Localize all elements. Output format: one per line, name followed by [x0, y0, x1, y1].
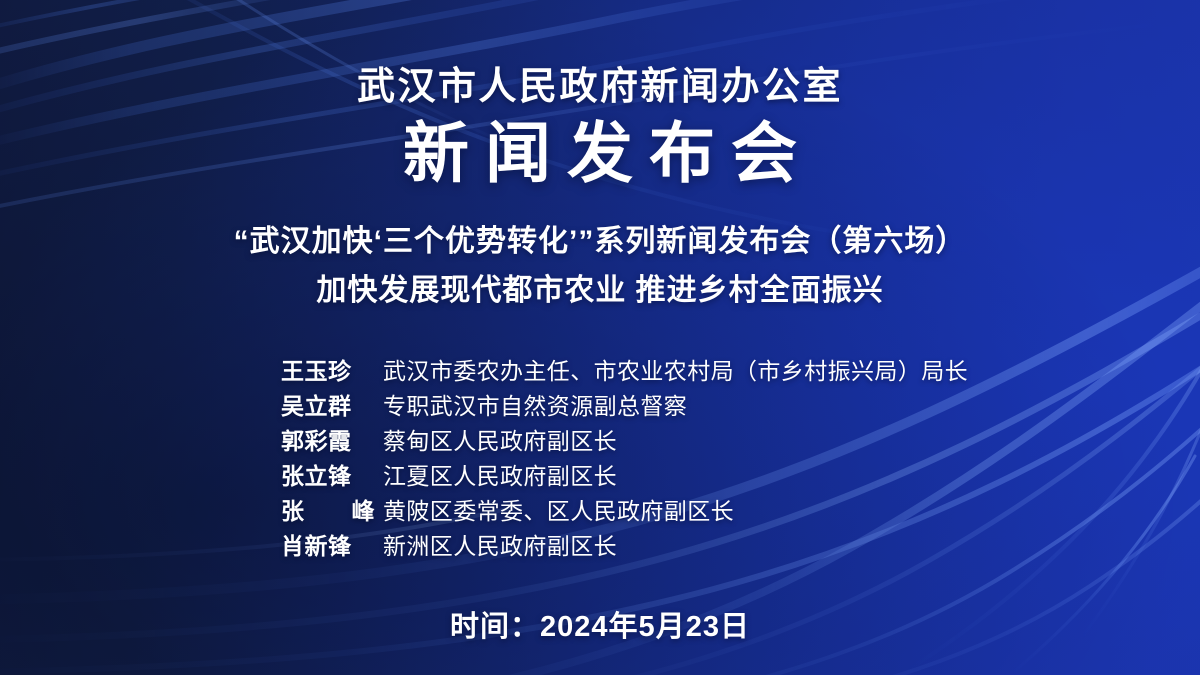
speaker-name: 吴立群 [281, 387, 383, 421]
subtitle-block: “武汉加快‘三个优势转化’”系列新闻发布会（第六场） 加快发展现代都市农业 推进… [0, 218, 1200, 315]
speaker-title: 新洲区人民政府副区长 [383, 527, 617, 561]
speaker-row: 张 峰黄陂区委常委、区人民政府副区长 [281, 492, 968, 527]
speaker-title: 黄陂区委常委、区人民政府副区长 [383, 492, 734, 526]
speaker-title: 武汉市委农办主任、市农业农村局（市乡村振兴局）局长 [383, 352, 968, 386]
speaker-name: 张 峰 [281, 492, 383, 526]
speaker-title: 江夏区人民政府副区长 [383, 457, 617, 491]
speaker-row: 吴立群专职武汉市自然资源副总督察 [281, 387, 968, 422]
subtitle-line-1: “武汉加快‘三个优势转化’”系列新闻发布会（第六场） [0, 218, 1200, 267]
speaker-row: 张立锋江夏区人民政府副区长 [281, 457, 968, 492]
speaker-roster: 王玉珍武汉市委农办主任、市农业农村局（市乡村振兴局）局长吴立群专职武汉市自然资源… [281, 352, 968, 562]
press-conference-poster: 武汉市人民政府新闻办公室 新闻发布会 “武汉加快‘三个优势转化’”系列新闻发布会… [0, 0, 1200, 675]
speaker-row: 郭彩霞蔡甸区人民政府副区长 [281, 422, 968, 457]
organization-title: 武汉市人民政府新闻办公室 [0, 66, 1200, 110]
event-date: 时间：2024年5月23日 [0, 603, 1200, 645]
page-title: 新闻发布会 [0, 112, 1200, 195]
speaker-title: 蔡甸区人民政府副区长 [383, 422, 617, 456]
speaker-row: 肖新锋新洲区人民政府副区长 [281, 527, 968, 562]
subtitle-line-2: 加快发展现代都市农业 推进乡村全面振兴 [0, 267, 1200, 316]
speaker-name: 郭彩霞 [281, 422, 383, 456]
poster-content: 武汉市人民政府新闻办公室 新闻发布会 “武汉加快‘三个优势转化’”系列新闻发布会… [0, 0, 1200, 675]
speaker-name: 张立锋 [281, 457, 383, 491]
speaker-row: 王玉珍武汉市委农办主任、市农业农村局（市乡村振兴局）局长 [281, 352, 968, 387]
speaker-title: 专职武汉市自然资源副总督察 [383, 387, 687, 421]
speaker-name: 肖新锋 [281, 527, 383, 561]
speaker-name: 王玉珍 [281, 352, 383, 386]
